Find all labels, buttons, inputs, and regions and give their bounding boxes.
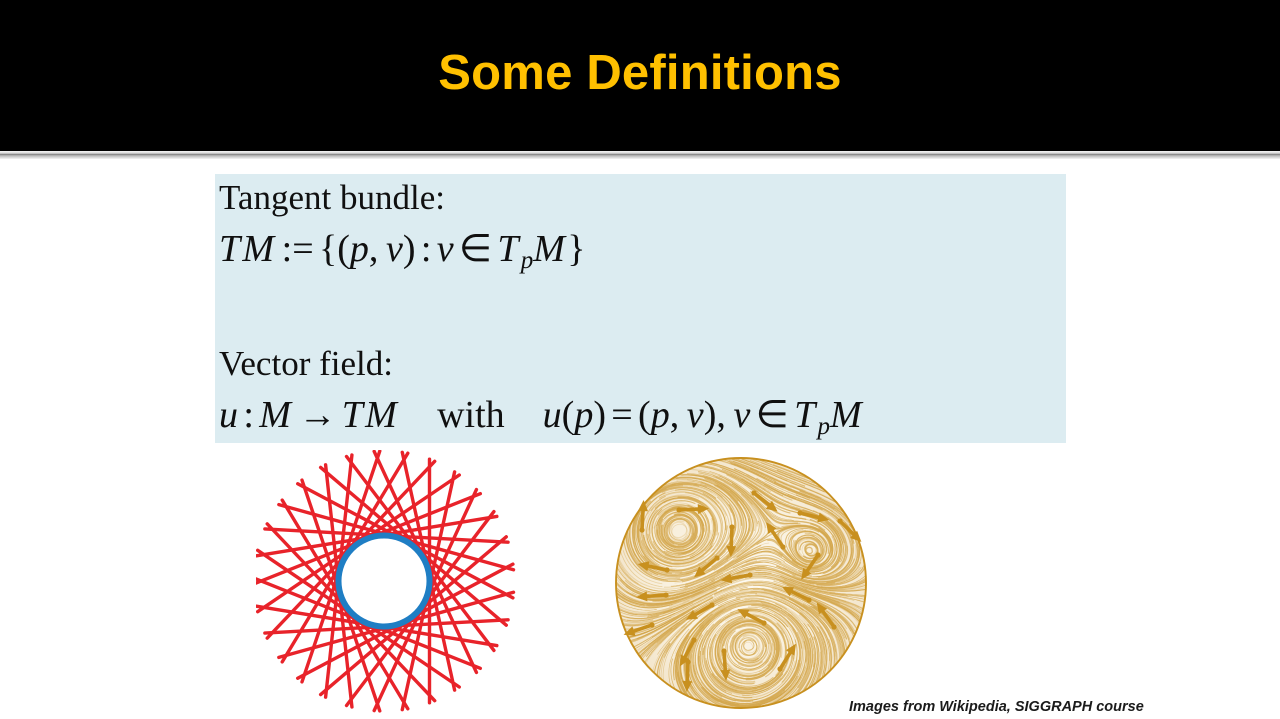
vector-base-point bbox=[639, 527, 644, 532]
vector-base-point bbox=[797, 510, 802, 515]
vector-base-point bbox=[709, 602, 714, 607]
vector-base-point bbox=[806, 597, 811, 602]
base-circle bbox=[339, 536, 430, 627]
vector-base-point bbox=[676, 507, 681, 512]
vector-base-point bbox=[729, 524, 734, 529]
vector-field-formula: u:M→TM with u(p)=(p, v), v∈TpM bbox=[219, 392, 864, 441]
vector-base-point bbox=[761, 620, 766, 625]
vector-base-point bbox=[815, 552, 820, 557]
vector-base-point bbox=[751, 490, 756, 495]
tangent-bundle-label: Tangent bundle: bbox=[219, 178, 445, 218]
page-title: Some Definitions bbox=[0, 48, 1280, 99]
header-divider bbox=[0, 151, 1280, 159]
tangent-bundle-formula: TM:={(p, v):v∈TpM} bbox=[219, 226, 585, 275]
header-divider-line bbox=[0, 154, 1280, 155]
vector-base-point bbox=[721, 648, 726, 653]
vector-field-disc-figure bbox=[604, 455, 882, 717]
vector-base-point bbox=[837, 518, 842, 523]
definitions-block: Tangent bundle: TM:={(p, v):v∈TpM} Vecto… bbox=[215, 174, 1066, 443]
vector-base-point bbox=[747, 572, 752, 577]
slide: Some Definitions Tangent bundle: TM:={(p… bbox=[0, 0, 1280, 719]
vector-base-point bbox=[714, 555, 719, 560]
vector-base-point bbox=[664, 567, 669, 572]
vector-base-point bbox=[649, 622, 654, 627]
image-credit-caption: Images from Wikipedia, SIGGRAPH course bbox=[849, 699, 1144, 715]
vector-field-label: Vector field: bbox=[219, 344, 393, 384]
vector-base-point bbox=[777, 666, 782, 671]
vector-base-point bbox=[663, 592, 668, 597]
vector-base-point bbox=[780, 544, 785, 549]
tangent-lines-circle-figure bbox=[256, 450, 518, 715]
vector-base-point bbox=[691, 637, 696, 642]
vector-base-point bbox=[831, 624, 836, 629]
